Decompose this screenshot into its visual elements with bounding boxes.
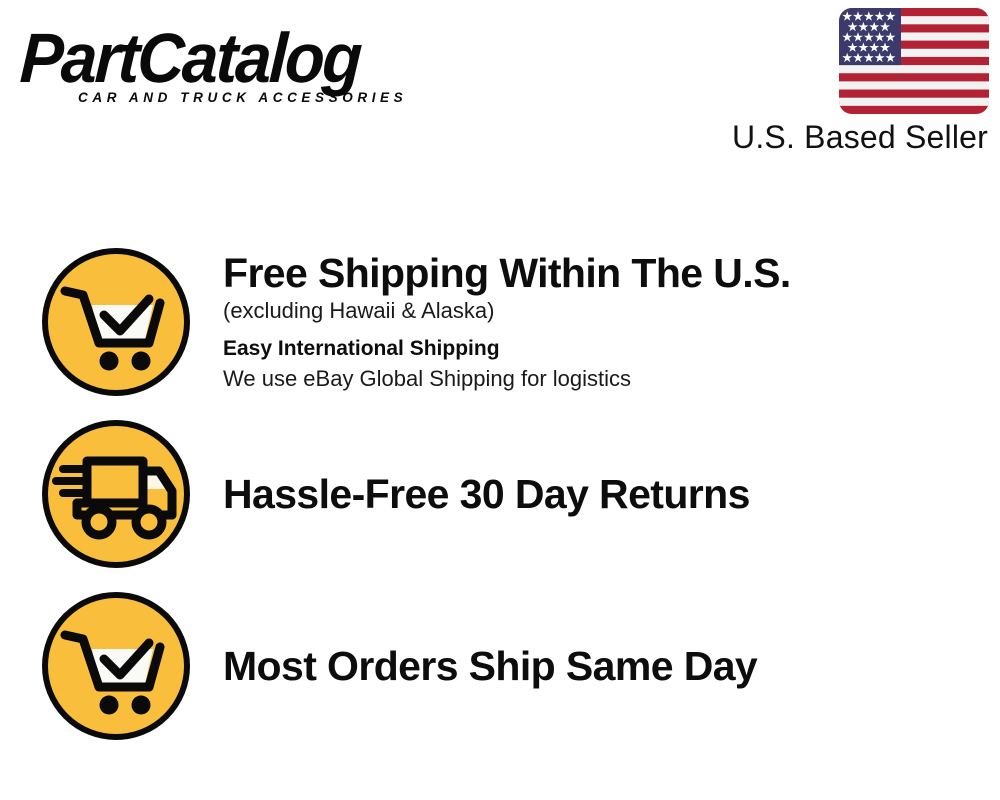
cart-check-icon [41,247,191,397]
feature-text-block: Most Orders Ship Same Day [191,641,1000,691]
feature-text-block: Hassle-Free 30 Day Returns [191,469,1000,519]
us-based-seller-label: U.S. Based Seller [732,119,988,156]
feature-row-free-shipping: Free Shipping Within The U.S. (excluding… [0,236,1000,408]
feature-text-block: Free Shipping Within The U.S. (excluding… [191,250,1000,394]
seller-info-banner: PartCatalog CAR AND TRUCK ACCESSORIES [0,0,1000,800]
feature-note: (excluding Hawaii & Alaska) [223,296,1000,326]
feature-subheading: Easy International Shipping [223,334,1000,364]
feature-list: Free Shipping Within The U.S. (excluding… [0,236,1000,752]
feature-headline: Hassle-Free 30 Day Returns [223,469,1000,519]
delivery-truck-icon [41,419,191,569]
cart-check-icon [41,591,191,741]
feature-subtext: We use eBay Global Shipping for logistic… [223,364,1000,394]
brand-wordmark: PartCatalog [18,22,459,94]
feature-row-returns: Hassle-Free 30 Day Returns [0,408,1000,580]
feature-headline: Free Shipping Within The U.S. [223,250,1000,296]
brand-logo: PartCatalog CAR AND TRUCK ACCESSORIES [22,22,492,114]
feature-row-same-day-ship: Most Orders Ship Same Day [0,580,1000,752]
us-flag-icon [839,8,989,114]
feature-headline: Most Orders Ship Same Day [223,641,1000,691]
